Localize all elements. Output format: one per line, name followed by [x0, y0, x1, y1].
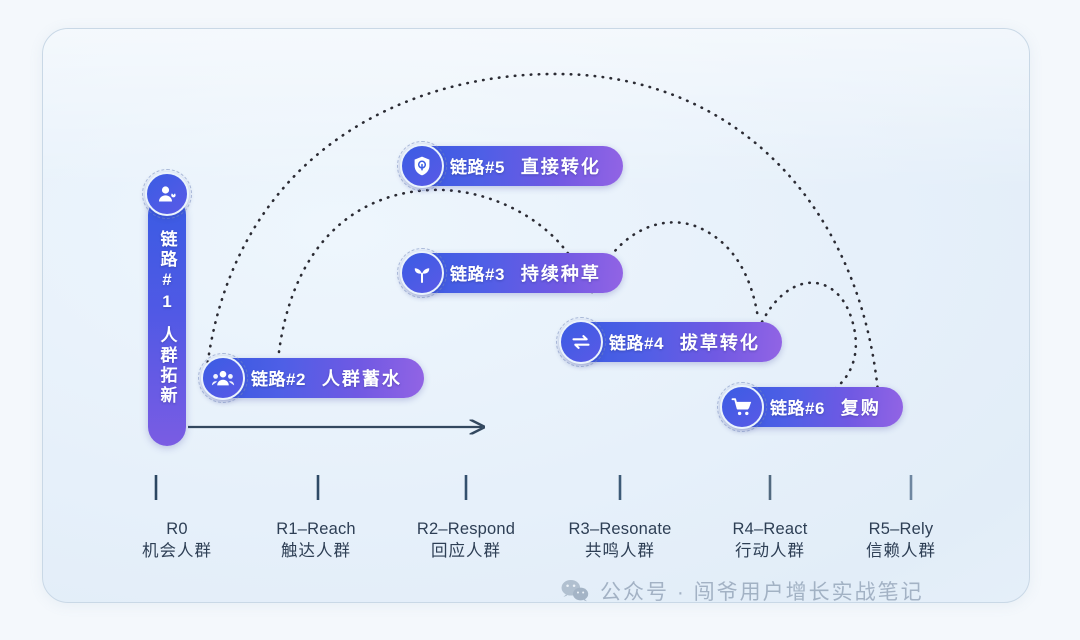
- shield-badge-icon: [400, 144, 444, 188]
- lane-6-pill[interactable]: 链路#6 复购: [724, 387, 903, 427]
- lane-4-pill[interactable]: 链路#4 拔草转化: [563, 322, 782, 362]
- exchange-icon: [559, 320, 603, 364]
- shopping-cart-icon: [720, 385, 764, 429]
- axis-label-r1: R1–Reach 触达人群: [276, 518, 356, 563]
- axis-label-r4: R4–React 行动人群: [733, 518, 808, 563]
- lane-5-label: 链路#5 直接转化: [450, 153, 601, 179]
- lane-3-label: 链路#3 持续种草: [450, 260, 601, 286]
- axis-label-r3: R3–Resonate 共鸣人群: [568, 518, 671, 563]
- lane-2-pill[interactable]: 链路#2 人群蓄水: [205, 358, 424, 398]
- axis-label-r0: R0 机会人群: [142, 518, 212, 563]
- wechat-icon: [560, 578, 590, 604]
- axis-label-r2: R2–Respond 回应人群: [417, 518, 515, 563]
- watermark: 公众号 · 闯爷用户增长实战笔记: [560, 576, 924, 606]
- lane-2-label: 链路#2 人群蓄水: [251, 365, 402, 391]
- lane-4-label: 链路#4 拔草转化: [609, 329, 760, 355]
- lane-6-label: 链路#6 复购: [770, 394, 881, 420]
- lane-1-bar[interactable]: 链路#1人群拓新: [148, 196, 186, 446]
- lane-5-pill[interactable]: 链路#5 直接转化: [404, 146, 623, 186]
- people-group-icon: [201, 356, 245, 400]
- watermark-text: 公众号 · 闯爷用户增长实战笔记: [600, 576, 924, 606]
- user-add-icon: [145, 172, 189, 216]
- lane-3-pill[interactable]: 链路#3 持续种草: [404, 253, 623, 293]
- sprout-icon: [400, 251, 444, 295]
- axis-label-r5: R5–Rely 信赖人群: [866, 518, 936, 563]
- lane-1-label: 链路#1人群拓新: [159, 230, 176, 406]
